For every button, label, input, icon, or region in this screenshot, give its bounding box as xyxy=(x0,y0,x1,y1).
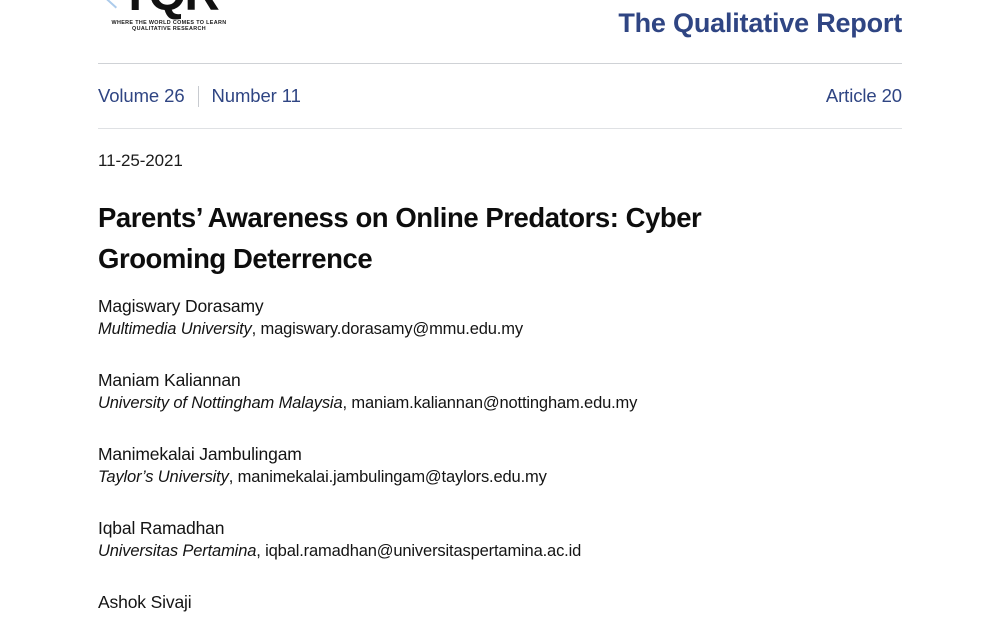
author-email[interactable]: manimekalai.jambulingam@taylors.edu.my xyxy=(238,468,547,486)
author-entry: Magiswary Dorasamy Multimedia University… xyxy=(98,294,938,341)
author-entry: Ashok Sivaji xyxy=(98,590,938,614)
author-email[interactable]: maniam.kaliannan@nottingham.edu.my xyxy=(351,394,637,412)
author-affiliation: Universitas Pertamina xyxy=(98,542,256,560)
issue-volume[interactable]: Volume 26 xyxy=(98,85,185,107)
author-name: Magiswary Dorasamy xyxy=(98,294,938,318)
divider-bottom xyxy=(98,128,902,129)
issue-article-number[interactable]: Article 20 xyxy=(826,85,902,107)
author-affiliation: Taylor’s University xyxy=(98,468,229,486)
author-list: Magiswary Dorasamy Multimedia University… xyxy=(98,294,938,641)
author-entry: Iqbal Ramadhan Universitas Pertamina, iq… xyxy=(98,516,938,563)
author-entry: Maniam Kaliannan University of Nottingha… xyxy=(98,368,938,415)
masthead: TQR WHERE THE WORLD COMES TO LEARN QUALI… xyxy=(98,0,902,56)
author-name: Ashok Sivaji xyxy=(98,590,938,614)
author-name: Maniam Kaliannan xyxy=(98,368,938,392)
author-email[interactable]: iqbal.ramadhan@universitaspertamina.ac.i… xyxy=(265,542,581,560)
issue-number[interactable]: Number 11 xyxy=(212,85,301,107)
logo-wordmark: TQR xyxy=(98,0,234,22)
author-affiliation: Multimedia University xyxy=(98,320,252,338)
author-affiliation-line: Multimedia University, magiswary.dorasam… xyxy=(98,318,938,341)
issue-metadata-row: Volume 26 Number 11 Article 20 xyxy=(98,85,902,115)
author-separator: , xyxy=(252,320,261,338)
publication-date: 11-25-2021 xyxy=(98,151,183,171)
issue-volume-number-group: Volume 26 Number 11 xyxy=(98,85,301,107)
author-name: Manimekalai Jambulingam xyxy=(98,442,938,466)
author-affiliation-line: University of Nottingham Malaysia, mania… xyxy=(98,392,938,415)
author-affiliation: University of Nottingham Malaysia xyxy=(98,394,342,412)
issue-separator xyxy=(198,86,199,107)
journal-title: The Qualitative Report xyxy=(618,8,902,39)
divider-top xyxy=(98,63,902,64)
tqr-logo[interactable]: TQR WHERE THE WORLD COMES TO LEARN QUALI… xyxy=(98,0,234,48)
journal-cover-page: TQR WHERE THE WORLD COMES TO LEARN QUALI… xyxy=(0,0,1000,565)
article-title: Parents’ Awareness on Online Predators: … xyxy=(98,197,818,279)
author-email[interactable]: magiswary.dorasamy@mmu.edu.my xyxy=(261,320,523,338)
author-affiliation-line: Taylor’s University, manimekalai.jambuli… xyxy=(98,466,938,489)
author-affiliation-line: Universitas Pertamina, iqbal.ramadhan@un… xyxy=(98,540,938,563)
author-separator: , xyxy=(229,468,238,486)
author-entry: Manimekalai Jambulingam Taylor’s Univers… xyxy=(98,442,938,489)
author-name: Iqbal Ramadhan xyxy=(98,516,938,540)
author-separator: , xyxy=(256,542,265,560)
